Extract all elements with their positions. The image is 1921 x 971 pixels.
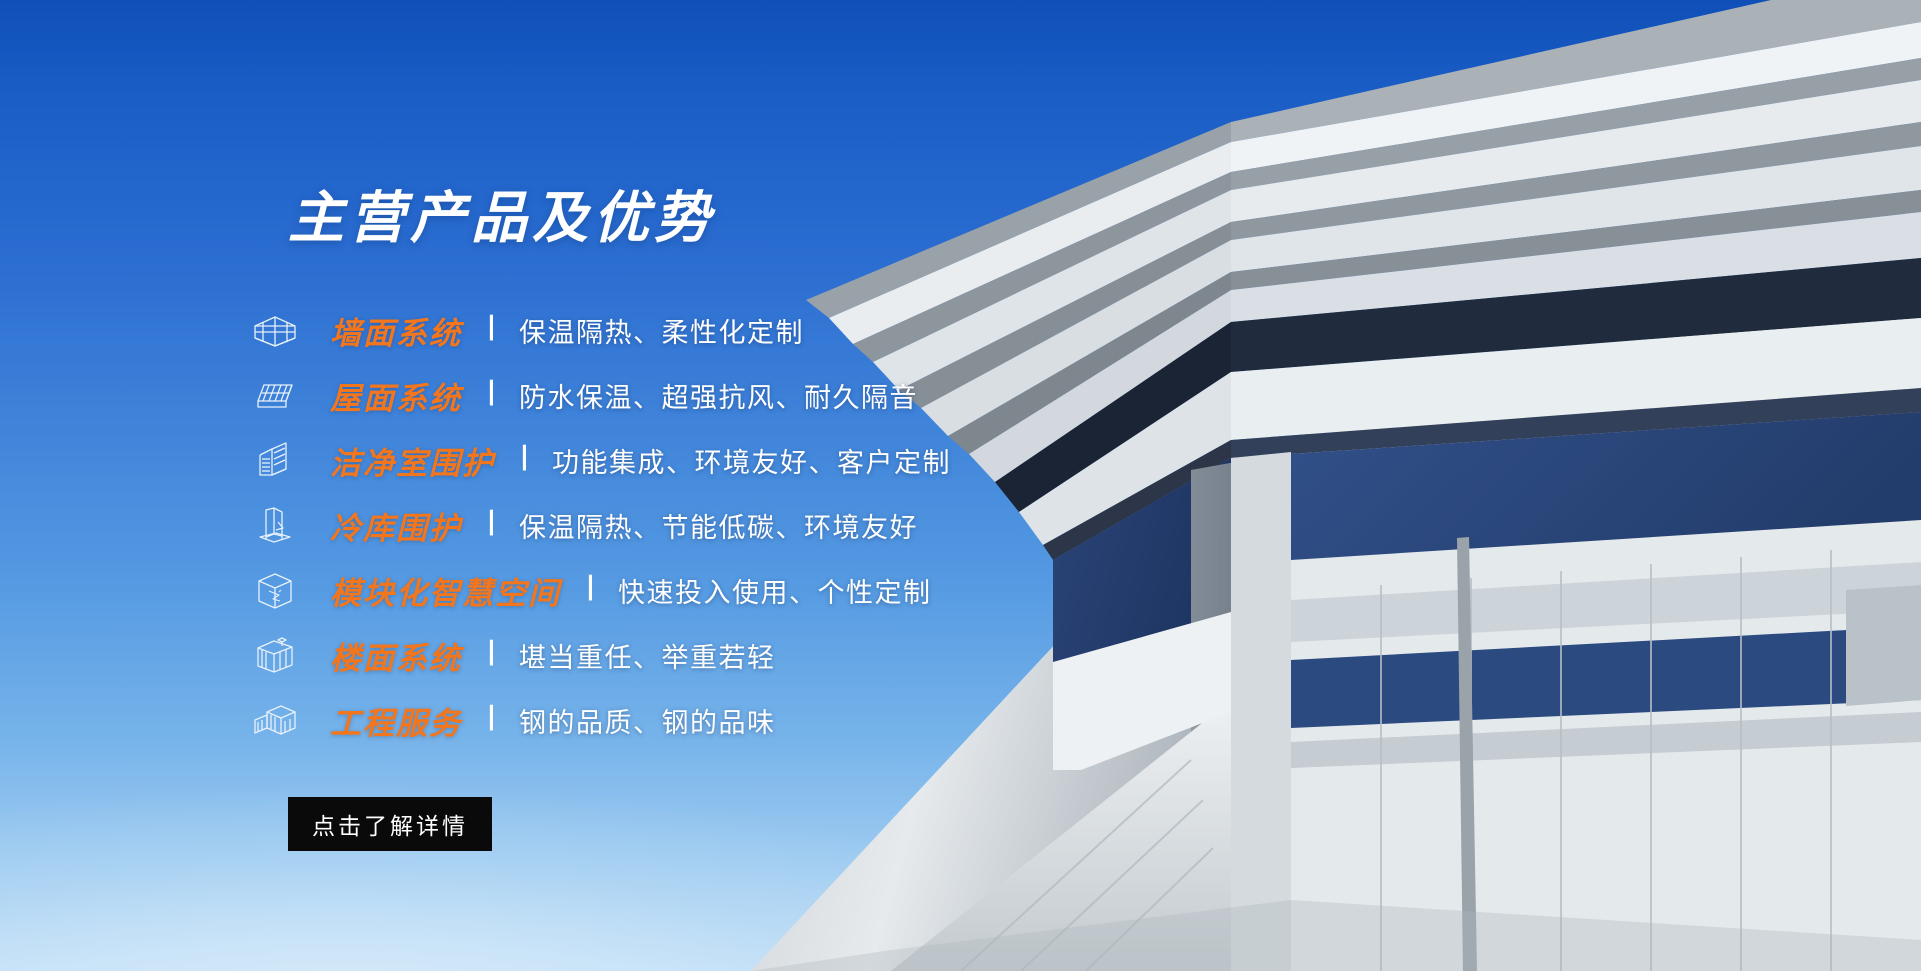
feature-list: 墙面系统 丨 保温隔热、柔性化定制 屋面系统 丨 防水保温、超强抗风、耐久隔音 — [236, 298, 1196, 753]
feature-separator: 丨 — [577, 576, 604, 603]
list-item[interactable]: 墙面系统 丨 保温隔热、柔性化定制 — [236, 298, 1196, 363]
feature-separator: 丨 — [478, 511, 505, 538]
feature-title: 洁净室围护 — [330, 438, 495, 483]
feature-description: 钢的品质、钢的品味 — [519, 701, 776, 740]
feature-description: 保温隔热、柔性化定制 — [519, 311, 804, 350]
floor-system-icon — [244, 633, 306, 679]
feature-title: 工程服务 — [330, 698, 462, 743]
learn-more-button[interactable]: 点击了解详情 — [288, 797, 492, 851]
feature-separator: 丨 — [478, 641, 505, 668]
feature-separator: 丨 — [478, 381, 505, 408]
content-column: 主营产品及优势 墙面系统 丨 保温隔热、柔性化定制 — [236, 0, 1196, 971]
feature-title: 楼面系统 — [330, 633, 462, 678]
feature-separator: 丨 — [511, 446, 538, 473]
feature-separator: 丨 — [478, 316, 505, 343]
engineering-service-icon — [244, 698, 306, 744]
list-item[interactable]: 屋面系统 丨 防水保温、超强抗风、耐久隔音 — [236, 363, 1196, 428]
feature-title: 冷库围护 — [330, 503, 462, 548]
list-item[interactable]: 工程服务 丨 钢的品质、钢的品味 — [236, 688, 1196, 753]
cleanroom-icon — [244, 438, 306, 484]
list-item[interactable]: 楼面系统 丨 堪当重任、举重若轻 — [236, 623, 1196, 688]
feature-title: 模块化智慧空间 — [330, 568, 561, 613]
feature-description: 功能集成、环境友好、客户定制 — [552, 441, 951, 480]
feature-title: 墙面系统 — [330, 308, 462, 353]
list-item[interactable]: 洁净室围护 丨 功能集成、环境友好、客户定制 — [236, 428, 1196, 493]
feature-separator: 丨 — [478, 706, 505, 733]
feature-description: 快速投入使用、个性定制 — [618, 571, 932, 610]
list-item[interactable]: 模块化智慧空间 丨 快速投入使用、个性定制 — [236, 558, 1196, 623]
feature-description: 堪当重任、举重若轻 — [519, 636, 776, 675]
roof-system-icon — [244, 373, 306, 419]
feature-description: 防水保温、超强抗风、耐久隔音 — [519, 376, 918, 415]
page-title: 主营产品及优势 — [288, 190, 715, 246]
modular-space-icon — [244, 568, 306, 614]
list-item[interactable]: 冷库围护 丨 保温隔热、节能低碳、环境友好 — [236, 493, 1196, 558]
cold-storage-icon — [244, 503, 306, 549]
wall-system-icon — [244, 308, 306, 354]
product-advantage-banner: 主营产品及优势 墙面系统 丨 保温隔热、柔性化定制 — [0, 0, 1921, 971]
feature-title: 屋面系统 — [330, 373, 462, 418]
feature-description: 保温隔热、节能低碳、环境友好 — [519, 506, 918, 545]
